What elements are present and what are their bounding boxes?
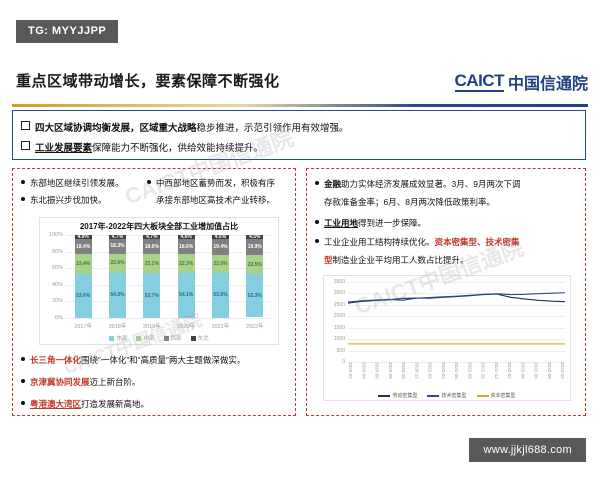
legend-item: 东北 [191,334,209,342]
left-bullet-4: 承接东部地区高技术产业转移。 [156,194,296,207]
right-bullet-3-cont: 型制造业企业平均用工人数占比提升。 [324,254,586,267]
bar-group: 4.9%18.4%23.4%53.6%4.7%18.3%22.6%54.0%4.… [66,235,272,318]
bar-segment: 53.6% [212,273,229,317]
bar-value-label: 22.3% [179,261,193,267]
legend-swatch [136,336,141,341]
line-chart-ytick: 3000 [334,290,345,296]
title-row: 重点区域带动增长，要素保障不断强化 CAICT 中国信通院 [0,66,600,106]
line-chart-xtick: 2020-02 [348,362,353,388]
legend-swatch [191,336,196,341]
legend-swatch [109,336,114,341]
line-chart-ytick: 2000 [334,313,345,319]
line-chart-svg [348,282,565,362]
left-red-bullet-2: 京津冀协同发展迈上新台阶。 [21,376,293,389]
line-chart-plot: 3500300025002000150010005000 [348,282,565,362]
bullet-dot-icon [315,181,319,185]
bar-chart-ytick: 40% [52,282,63,288]
legend-line [378,395,390,397]
summary-2-bold: 工业发展要素 [35,143,92,154]
logo-mark: CAICT [455,72,504,92]
bar-chart-xtick: 2021年 [208,322,232,330]
right-bullet-1-cont: 存款准备金率；6月、8月两次降低政策利率。 [324,196,586,209]
right-bullet-1: 金融助力实体经济发展成效显著。3月、9月两次下调 [315,178,577,191]
bar-value-label: 52.3% [248,293,262,299]
legend-label: 东北 [198,334,209,342]
bullet-dot-icon [21,401,25,405]
bar-segment: 53.7% [143,273,160,318]
line-chart-ytick: 3500 [334,279,345,285]
legend-swatch [164,336,169,341]
bar-chart-xaxis: 2017年2018年2019年2020年2021年2022年 [66,322,272,330]
bar-value-label: 19.9% [248,244,262,250]
bar-chart-ytick: 80% [52,249,63,255]
left-panel: 东部地区继续引领发展。 东北振兴步伐加快。 中西部地区蓄势而发，积极有序 承接东… [12,168,296,416]
summary-line-2: 工业发展要素保障能力不断强化，供给效能持续提升。 [21,140,263,154]
bar-segment: 23.1% [143,254,160,273]
left-red-bullet-1-label: 围绕“一体化”和“高质量”两大主题做深做实。 [81,355,245,365]
summary-box: 四大区域协调均衡发展，区域重大战略稳步推进，示范引领作用有效增强。 工业发展要素… [12,110,586,160]
bar-value-label: 53.6% [213,292,227,298]
summary-1-bold: 四大区域协调均衡发展， [35,123,140,134]
left-bullet-2: 东北振兴步伐加快。 [21,194,141,207]
top-watermark-tag: TG: MYYJJPP [16,20,118,43]
bar-segment: 53.6% [75,274,92,318]
bar-chart-plot: 100%80%60%40%20%0%4.9%18.4%23.4%53.6%4.7… [66,235,272,318]
left-bullet-1-label: 东部地区继续引领发展。 [30,178,124,188]
bar-chart-ytick: 100% [49,232,63,238]
left-red-bullet-2-label: 迈上新台阶。 [90,377,141,387]
bar-value-label: 22.5% [248,262,262,268]
bar-value-label: 18.6% [179,244,193,250]
line-chart-xtick: 2021-04 [441,362,446,388]
line-chart-xtick: 2021-12 [494,362,499,388]
bar-value-label: 23.1% [145,261,159,267]
bar-value-label: 53.7% [145,293,159,299]
bar-column: 4.7%18.6%23.1%53.7% [143,235,160,318]
bar-segment: 22.5% [246,255,263,274]
left-red-bullet-3-key: 粤港澳大湾区 [30,399,81,409]
title-divider [12,104,588,107]
left-bullet-2-label: 东北振兴步伐加快。 [30,195,107,205]
bar-chart-legend: 东部中部西部东北 [40,334,278,342]
bar-column: 4.7%18.3%22.6%54.0% [109,235,126,318]
line-chart-xtick: 2021-08 [467,362,472,388]
right-bullet-3-red: 资本密集型、技术密集 [435,237,520,247]
bar-column: 4.5%19.9%22.5%52.3% [246,235,263,318]
bar-value-label: 54.0% [110,292,124,298]
left-red-bullet-3-label: 打造发展新高地。 [81,399,149,409]
line-chart-xtick: 2021-02 [428,362,433,388]
page-title: 重点区域带动增长，要素保障不断强化 [16,70,280,91]
bar-segment: 54.0% [109,273,126,318]
line-chart-xtick: 2020-12 [414,362,419,388]
bullet-dot-icon [315,239,319,243]
bar-segment: 18.4% [75,239,92,254]
right-bullet-3-cont-red: 型 [324,255,333,265]
line-chart-xtick: 2020-10 [401,362,406,388]
left-red-bullet-1-key: 长三角一体化 [30,355,81,365]
left-bullet-3: 中西部地区蓄势而发，积极有序 [147,177,293,190]
legend-item: 资本密集型 [477,392,516,399]
line-chart-xtick: 2020-04 [361,362,366,388]
line-chart-xtick: 2022-04 [520,362,525,388]
bar-value-label: 19.4% [213,244,227,250]
bar-segment: 23.4% [75,254,92,273]
legend-line [477,395,489,397]
line-chart-xtick: 2021-10 [481,362,486,388]
line-series [348,294,565,303]
line-chart-ytick: 500 [337,348,345,354]
line-chart-xtick: 2020-06 [375,362,380,388]
line-chart-xtick: 2020-08 [388,362,393,388]
legend-item: 技术密集型 [427,392,466,399]
legend-label: 东部 [116,334,127,342]
bar-segment: 18.6% [178,239,195,254]
legend-item: 劳动密集型 [378,392,417,399]
bar-value-label: 22.0% [213,261,227,267]
bar-value-label: 18.6% [145,244,159,250]
bar-segment: 19.9% [246,239,263,256]
bar-chart-title: 2017年-2022年四大板块全部工业增加值占比 [40,221,278,232]
bullet-dot-icon [21,379,25,383]
bar-segment: 54.1% [178,273,195,318]
left-bullet-1: 东部地区继续引领发展。 [21,177,141,190]
bar-value-label: 53.6% [76,293,90,299]
checkbox-icon [21,121,30,130]
bullet-dot-icon [315,220,319,224]
right-bullet-1-label: 助力实体经济发展成效显著。3月、9月两次下调 [341,179,520,189]
line-chart-ytick: 0 [342,359,345,365]
right-bullet-1-cont-label: 存款准备金率；6月、8月两次降低政策利率。 [324,197,495,207]
bar-segment: 19.4% [212,239,229,255]
right-bullet-2: 工业用地得到进一步保障。 [315,217,577,230]
bar-value-label: 18.4% [76,244,90,250]
legend-item: 东部 [109,334,127,342]
legend-label: 中部 [143,334,154,342]
line-chart-xtick: 2021-06 [454,362,459,388]
bar-value-label: 23.4% [76,261,90,267]
bar-chart-xtick: 2020年 [174,322,198,330]
right-bullet-1-key: 金融 [324,179,341,189]
left-bullet-4-label: 承接东部地区高技术产业转移。 [156,195,275,205]
summary-2-rest: 保障能力不断强化，供给效能持续提升。 [92,143,263,154]
line-chart-xaxis: 2020-022020-042020-062020-082020-102020-… [348,362,565,388]
bar-value-label: 22.6% [110,260,124,266]
bar-column: 4.5%19.4%22.0%53.6% [212,235,229,318]
bar-column: 4.9%18.4%23.4%53.6% [75,235,92,318]
logo-text: 中国信通院 [508,70,588,94]
line-chart-xtick: 2022-06 [534,362,539,388]
line-chart: 3500300025002000150010005000 2020-022020… [323,275,571,401]
bar-value-label: 54.1% [179,292,193,298]
bar-chart-ytick: 20% [52,298,63,304]
bar-chart-ytick: 0% [55,315,63,321]
caict-logo: CAICT 中国信通院 [455,70,588,94]
line-chart-xtick: 2022-08 [547,362,552,388]
legend-label: 技术密集型 [441,392,466,399]
summary-line-1: 四大区域协调均衡发展，区域重大战略稳步推进，示范引领作用有效增强。 [21,120,349,134]
line-chart-xtick: 2022-10 [560,362,565,388]
bar-segment: 22.0% [212,255,229,273]
line-chart-xtick: 2022-02 [507,362,512,388]
checkbox-icon [21,141,30,150]
bullet-dot-icon [21,197,25,201]
left-bullet-3-label: 中西部地区蓄势而发，积极有序 [156,178,275,188]
left-red-bullet-3: 粤港澳大湾区打造发展新高地。 [21,398,293,411]
right-bullet-3: 工业企业用工结构持续优化。资本密集型、技术密集 [315,236,577,249]
legend-item: 中部 [136,334,154,342]
summary-1-rest: 稳步推进，示范引领作用有效增强。 [197,123,349,134]
bullet-dot-icon [21,180,25,184]
right-bullet-2-key: 工业用地 [324,218,358,228]
legend-item: 西部 [164,334,182,342]
bar-column: 4.6%18.6%22.3%54.1% [178,235,195,318]
footer-watermark-tag: www.jjkjl688.com [469,438,586,462]
slide: TG: MYYJJPP 重点区域带动增长，要素保障不断强化 CAICT 中国信通… [0,0,600,480]
bullet-dot-icon [147,180,151,184]
right-bullet-3-cont-label: 制造业企业平均用工人数占比提升。 [333,255,469,265]
legend-label: 西部 [171,334,182,342]
left-red-bullet-2-key: 京津冀协同发展 [30,377,90,387]
right-bullet-3-label: 工业企业用工结构持续优化。 [324,237,435,247]
line-chart-ytick: 1000 [334,336,345,342]
line-chart-legend: 劳动密集型技术密集型资本密集型 [324,392,570,399]
bar-chart-xtick: 2018年 [105,322,129,330]
bar-segment: 22.6% [109,254,126,273]
bar-segment: 22.3% [178,254,195,273]
bar-segment: 52.3% [246,274,263,317]
gridline [66,318,272,319]
legend-line [427,395,439,397]
bar-segment: 18.6% [143,239,160,254]
bar-segment: 18.3% [109,239,126,254]
bar-chart: 2017年-2022年四大板块全部工业增加值占比 100%80%60%40%20… [39,217,279,345]
bar-chart-xtick: 2022年 [243,322,267,330]
legend-label: 劳动密集型 [392,392,417,399]
bar-chart-xtick: 2019年 [140,322,164,330]
line-chart-ytick: 1500 [334,325,345,331]
bullet-dot-icon [21,357,25,361]
right-bullet-2-label: 得到进一步保障。 [358,218,426,228]
bar-chart-xtick: 2017年 [71,322,95,330]
bar-chart-ytick: 60% [52,265,63,271]
bar-value-label: 18.3% [110,243,124,249]
left-red-bullet-1: 长三角一体化围绕“一体化”和“高质量”两大主题做深做实。 [21,354,293,367]
line-chart-ytick: 2500 [334,302,345,308]
right-panel: 金融助力实体经济发展成效显著。3月、9月两次下调 存款准备金率；6月、8月两次降… [306,168,586,416]
summary-1-mid: 区域重大战略 [140,123,197,134]
legend-label: 资本密集型 [491,392,516,399]
